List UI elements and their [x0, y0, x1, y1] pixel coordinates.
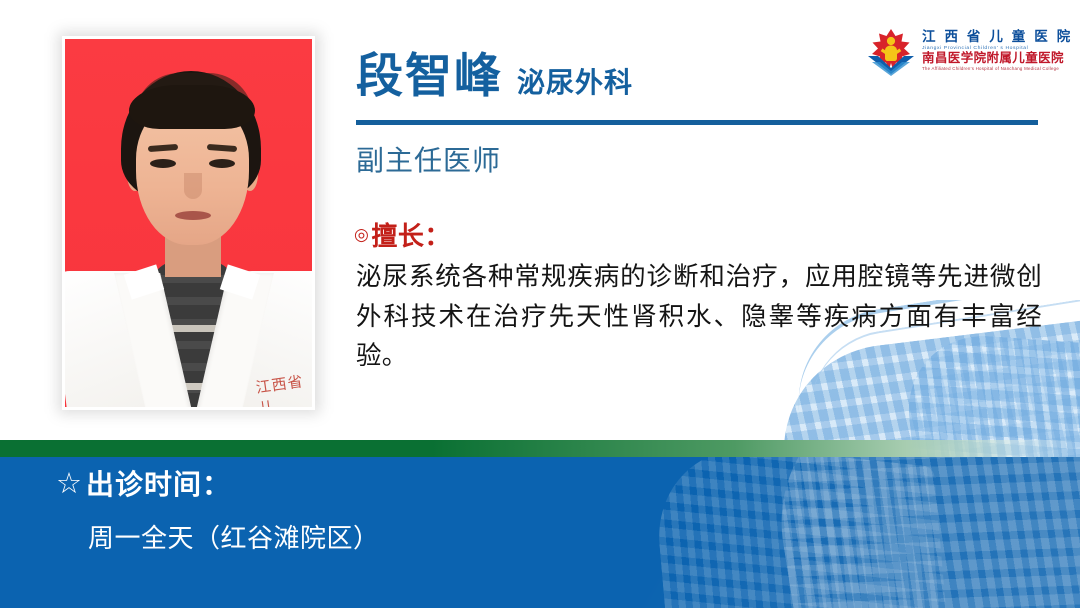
green-accent-band: [0, 440, 1080, 457]
doctor-portrait-photo: 江西省儿: [62, 36, 315, 410]
bullet-marker-icon: ◎: [354, 225, 369, 245]
star-icon: ☆: [56, 470, 82, 499]
doctor-name: 段智峰: [356, 52, 503, 99]
specialty-label: ◎ 擅长：: [354, 216, 451, 253]
logo-en-line1: Jiangxi Provincial Children' s Hospital: [922, 46, 1073, 51]
header-divider: [356, 120, 1038, 125]
specialty-text: 泌尿系统各种常规疾病的诊断和治疗，应用腔镜等先进微创外科技术在治疗先天性肾积水、…: [356, 258, 1042, 377]
logo-en-line2: The Affiliated Children's Hospital of Na…: [922, 67, 1073, 72]
doctor-profile-card: 江西省儿: [0, 0, 1080, 608]
schedule-entry: 周一全天（红谷滩院区）: [88, 518, 380, 555]
schedule-heading: ☆ 出诊时间：: [56, 470, 231, 499]
logo-cn-line2: 南昌医学院附属儿童医院: [922, 52, 1073, 66]
doctor-name-row: 段智峰 泌尿外科: [356, 52, 633, 99]
specialty-label-text: 擅长：: [371, 216, 451, 253]
schedule-heading-text: 出诊时间：: [86, 471, 231, 499]
hospital-child-emblem-icon: [866, 26, 916, 76]
hospital-logo: 江 西 省 儿 童 医 院 Jiangxi Provincial Childre…: [866, 22, 1048, 80]
doctor-department: 泌尿外科: [517, 69, 633, 97]
logo-cn-line1: 江 西 省 儿 童 医 院: [922, 30, 1073, 45]
coat-badge-text: 江西省儿: [254, 369, 314, 410]
doctor-title: 副主任医师: [356, 139, 501, 179]
